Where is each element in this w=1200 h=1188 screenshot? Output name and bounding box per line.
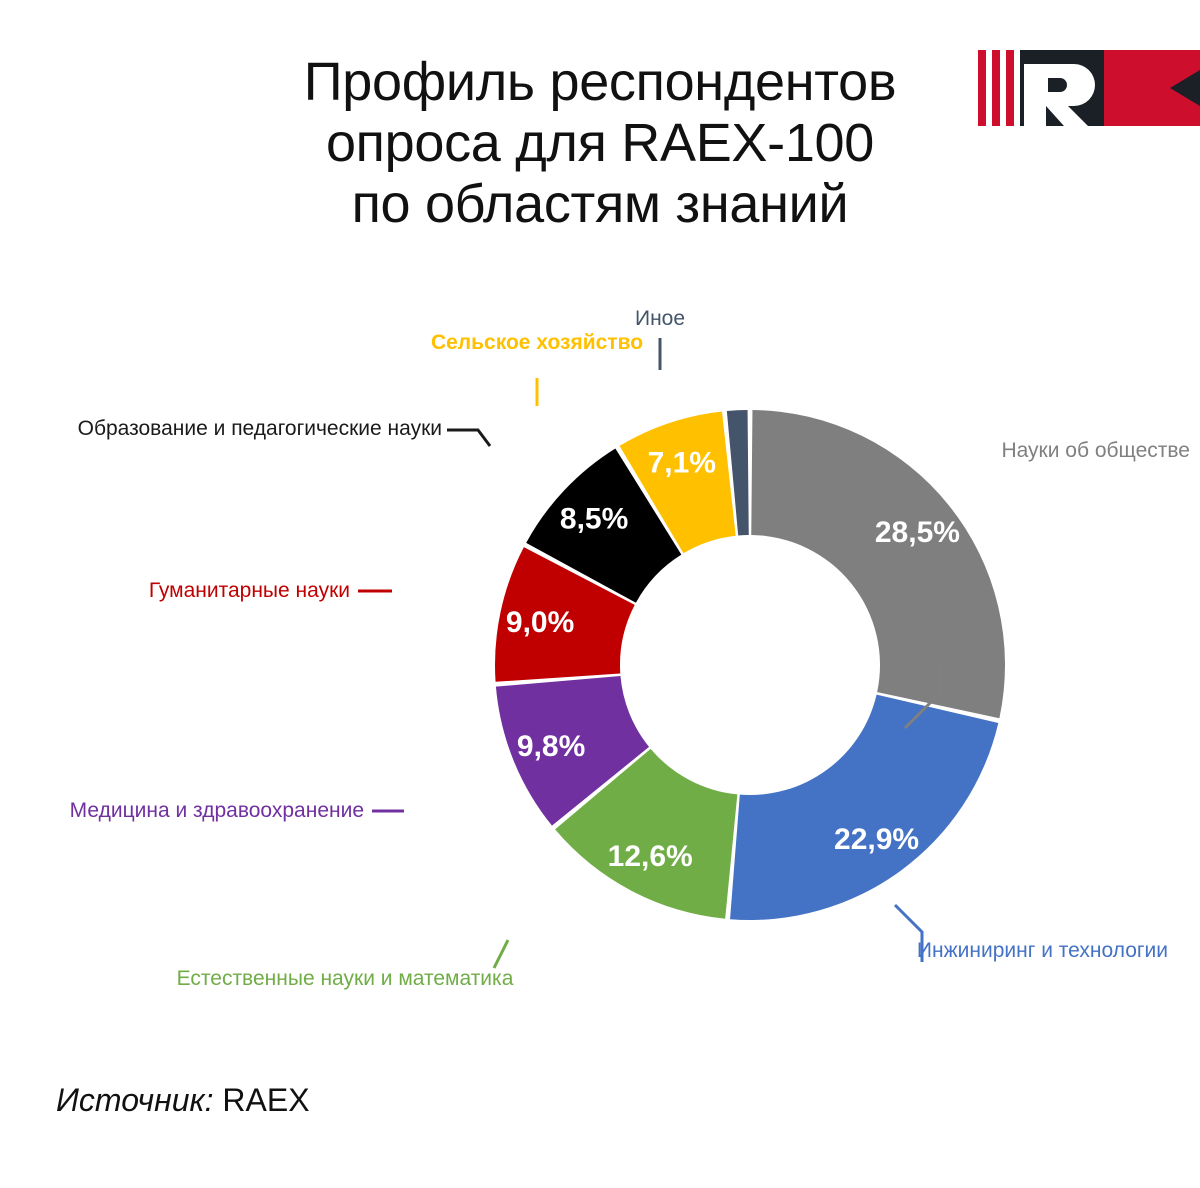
slice-value-сельское-хозяйство: 7,1% — [648, 447, 716, 480]
slice-value-медицина-и-здравоохранение: 9,8% — [517, 730, 585, 763]
slice-value-инжиниринг-и-технологии: 22,9% — [834, 823, 919, 856]
callout-label-meditsina: Медицина и здравоохранение — [62, 800, 364, 821]
page-title: Профиль респондентов опроса для RAEX-100… — [180, 52, 1020, 235]
callout-label-estestvennye-nauki: Естественные науки и математика — [172, 968, 518, 989]
slice-value-образование-и-педагогические-науки: 8,5% — [560, 503, 628, 536]
donut-chart-svg: 28,5%22,9%12,6%9,8%9,0%8,5%7,1% — [0, 250, 1200, 1040]
rx-logo — [964, 44, 1200, 132]
slice-value-естественные-науки-и-математика: 12,6% — [608, 840, 693, 873]
callout-label-obrazovanie: Образование и педагогические науки — [52, 418, 442, 439]
callout-label-gumanitarnye-nauki: Гуманитарные науки — [128, 580, 350, 601]
source-label: Источник: — [56, 1082, 214, 1118]
callout-label-nauki-ob-obshchestve: Науки об обществе — [930, 440, 1190, 461]
source-note: Источник: RAEX — [56, 1082, 310, 1119]
slice-value-науки-об-обществе: 28,5% — [875, 516, 960, 549]
source-value: RAEX — [222, 1082, 309, 1118]
chart-page: Профиль респондентов опроса для RAEX-100… — [0, 0, 1200, 1188]
slice-value-гуманитарные-науки: 9,0% — [506, 606, 574, 639]
slice-инжиниринг-и-технологии[interactable] — [730, 695, 998, 920]
leader-line-obrazovanie — [447, 430, 490, 446]
leader-line-estestvennye-nauki — [494, 940, 508, 968]
donut-chart: 28,5%22,9%12,6%9,8%9,0%8,5%7,1% Иное Сел… — [0, 250, 1200, 1040]
rx-logo-mark — [964, 44, 1200, 132]
callout-label-inoe: Иное — [572, 308, 748, 329]
callout-label-inzhiniring: Инжиниринг и технологии — [868, 940, 1168, 961]
callout-label-selskoe-khozyaystvo: Сельское хозяйство — [337, 332, 737, 353]
